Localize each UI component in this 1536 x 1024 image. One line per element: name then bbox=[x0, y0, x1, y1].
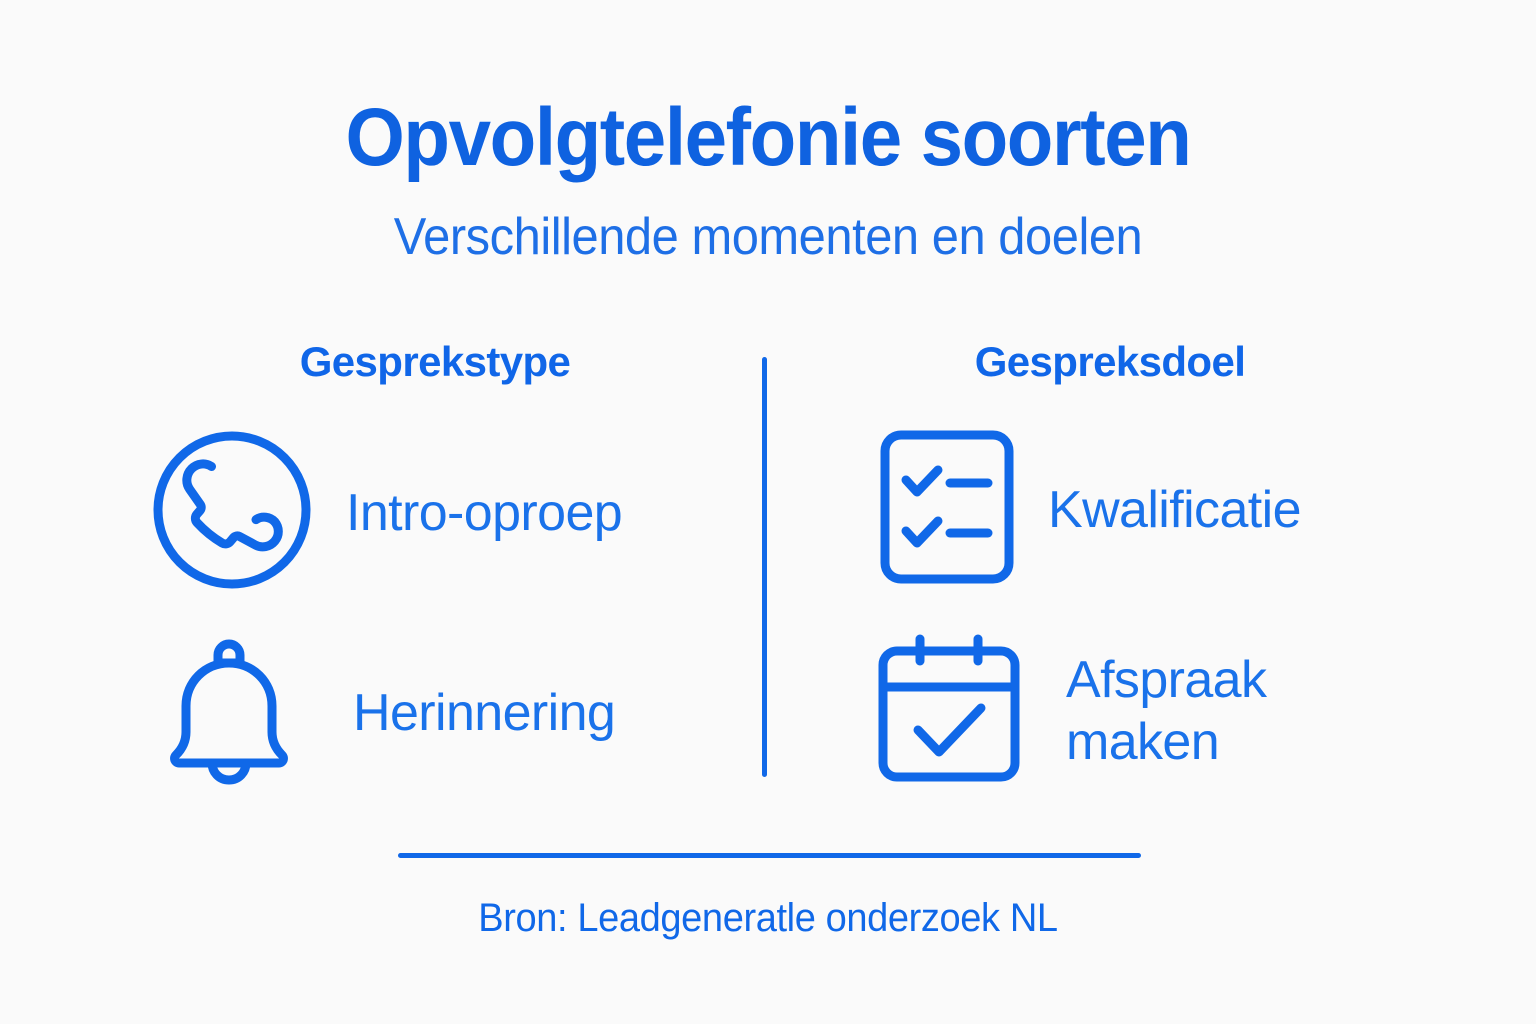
calendar-check-icon bbox=[876, 632, 1022, 789]
phone-circle-icon bbox=[150, 428, 314, 597]
bell-icon bbox=[150, 632, 308, 793]
list-item-intro-oproep: Intro-oproep bbox=[150, 428, 622, 597]
source-note: Bron: Leadgeneratle onderzoek NL bbox=[38, 893, 1497, 943]
vertical-divider bbox=[762, 357, 767, 777]
footer-divider bbox=[398, 853, 1141, 858]
infographic-canvas: Opvolgtelefonie soorten Verschillende mo… bbox=[0, 0, 1536, 1024]
list-item-afspraak-maken: Afspraak maken bbox=[876, 632, 1266, 789]
list-item-label: Afspraak maken bbox=[1066, 649, 1266, 773]
list-item-label: Kwalificatie bbox=[1048, 480, 1301, 540]
column-heading-gesprekstype: Gesprekstype bbox=[170, 334, 700, 390]
list-item-label: Herinnering bbox=[353, 683, 615, 743]
list-item-herinnering: Herinnering bbox=[150, 632, 615, 793]
list-item-kwalificatie: Kwalificatie bbox=[878, 428, 1301, 591]
page-subtitle: Verschillende momenten en doelen bbox=[46, 205, 1490, 269]
list-item-label: Intro-oproep bbox=[346, 483, 622, 543]
page-title: Opvolgtelefonie soorten bbox=[54, 86, 1482, 190]
column-heading-gespreksdoel: Gespreksdoel bbox=[845, 334, 1375, 390]
checklist-icon bbox=[878, 428, 1016, 591]
